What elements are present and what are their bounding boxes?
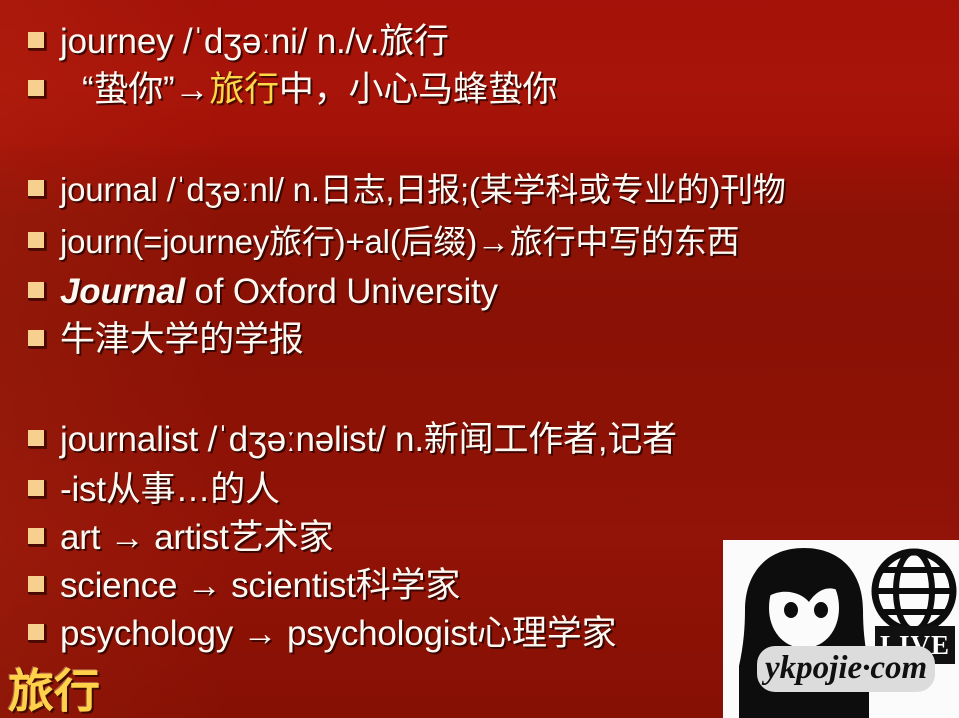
bullet-line-example-psychology: psychology → psychologist心理学家: [0, 612, 616, 656]
italic-term: Journal: [60, 272, 185, 311]
bullet-square-icon: [28, 480, 46, 498]
text-run: 牛津大学的学报: [60, 320, 304, 359]
bullet-square-icon: [28, 232, 46, 250]
bullet-square-icon: [28, 528, 46, 546]
bullet-square-icon: [28, 624, 46, 642]
bullet-square-icon: [28, 330, 46, 348]
bullet-text: “蛰你”→旅行中，小心马蜂蛰你: [82, 68, 557, 112]
text-run: -ist从事…的人: [60, 470, 280, 509]
bullet-square-icon: [28, 80, 46, 98]
bullet-line-example-science: science → scientist科学家: [0, 564, 460, 608]
bullet-text: science → scientist科学家: [60, 564, 460, 608]
text-run: psychology → psychologist心理学家: [60, 614, 616, 653]
bullet-line-journal-entry: journal /ˈdʒəːnl/ n.日志,日报;(某学科或专业的)刊物: [0, 168, 786, 212]
bullet-square-icon: [28, 282, 46, 300]
bullet-text: art → artist艺术家: [60, 516, 333, 560]
bullet-line-example-art: art → artist艺术家: [0, 516, 333, 560]
text-run: journal /ˈdʒəːnl/ n.日志,日报;(某学科或专业的)刊物: [60, 171, 786, 208]
bullet-line-journey-entry: journey /ˈdʒəːni/ n./v.旅行: [0, 20, 449, 64]
bullet-text: Journal of Oxford University: [60, 270, 498, 314]
bullet-line-journalist-entry: journalist /ˈdʒəːnəlist/ n.新闻工作者,记者: [0, 418, 677, 462]
bullet-square-icon: [28, 32, 46, 50]
corner-keyword: 旅行: [8, 666, 100, 716]
text-run: science → scientist科学家: [60, 566, 460, 605]
bullet-text: journalist /ˈdʒəːnəlist/ n.新闻工作者,记者: [60, 418, 677, 462]
text-run: journey /ˈdʒəːni/ n./v.旅行: [60, 22, 449, 61]
bullet-text: journal /ˈdʒəːnl/ n.日志,日报;(某学科或专业的)刊物: [60, 168, 786, 212]
bullet-text: 牛津大学的学报: [60, 318, 304, 362]
bullet-text: journ(=journey旅行)+al(后缀)→旅行中写的东西: [60, 220, 739, 264]
bullet-square-icon: [28, 576, 46, 594]
bullet-square-icon: [28, 180, 46, 198]
watermark-card: LIVE ykpojie·com: [723, 540, 959, 718]
text-run: art → artist艺术家: [60, 518, 333, 557]
bullet-line-journalist-suffix: -ist从事…的人: [0, 468, 280, 512]
bullet-line-journal-breakdown: journ(=journey旅行)+al(后缀)→旅行中写的东西: [0, 220, 739, 264]
bullet-text: -ist从事…的人: [60, 468, 280, 512]
bullet-square-icon: [28, 430, 46, 448]
text-run: “蛰你”→: [82, 70, 209, 109]
bullet-text: journey /ˈdʒəːni/ n./v.旅行: [60, 20, 449, 64]
bullet-line-journal-example-zh: 牛津大学的学报: [0, 318, 304, 362]
globe-icon: [871, 548, 957, 634]
text-run: 中，小心马蜂蛰你: [279, 70, 557, 109]
bullet-text: psychology → psychologist心理学家: [60, 612, 616, 656]
watermark-url: ykpojie·com: [757, 646, 935, 692]
bullet-line-journal-example-en: Journal of Oxford University: [0, 270, 498, 314]
text-run: of Oxford University: [185, 272, 498, 311]
text-run: journalist /ˈdʒəːnəlist/ n.新闻工作者,记者: [60, 420, 677, 459]
text-run: journ(=journey旅行)+al(后缀)→旅行中写的东西: [60, 223, 739, 260]
bullet-line-journey-mnemonic: “蛰你”→旅行中，小心马蜂蛰你: [0, 68, 557, 112]
slide-canvas: journey /ˈdʒəːni/ n./v.旅行“蛰你”→旅行中，小心马蜂蛰你…: [0, 0, 959, 718]
highlighted-term: 旅行: [209, 70, 279, 109]
